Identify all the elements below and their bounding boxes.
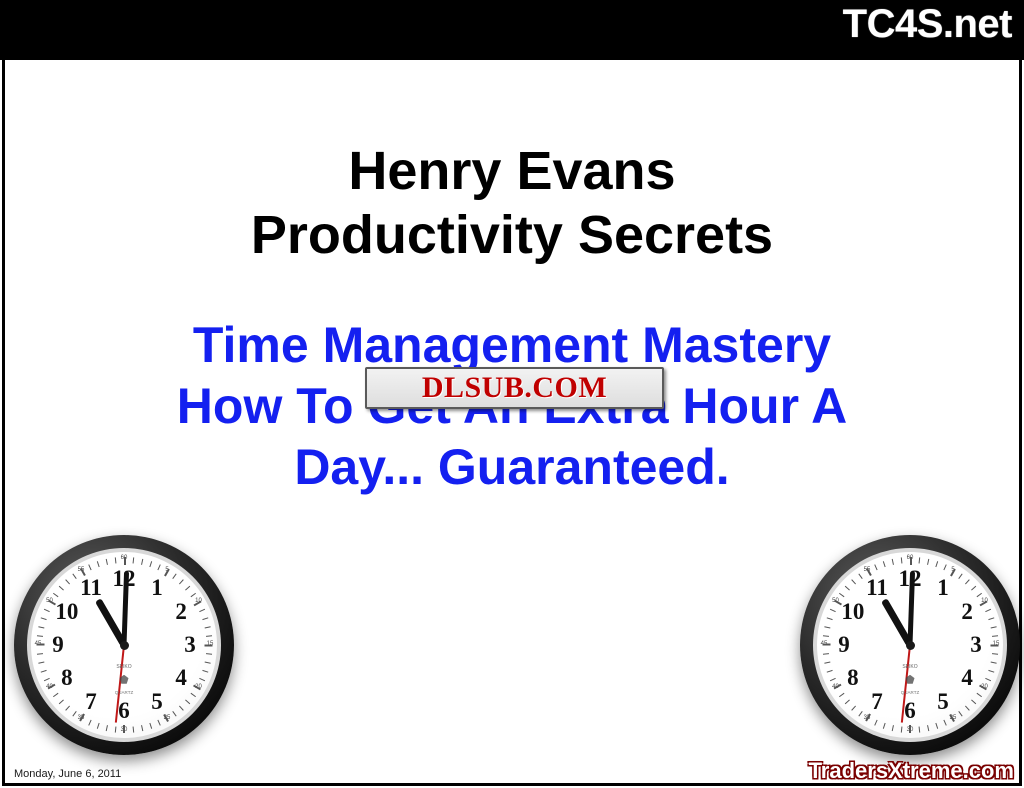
clock-tick: [892, 559, 894, 565]
clock-tick: [179, 706, 184, 711]
clock-tick: [935, 561, 938, 567]
clock-tick: [827, 617, 833, 620]
clock-tick: [883, 723, 886, 729]
clock-tick: [927, 559, 929, 565]
clock-tick: [41, 670, 47, 673]
dlsub-watermark: DLSUB.COM: [365, 367, 664, 409]
clock-tick: [202, 617, 208, 620]
clock-face: SEIKO QUARTZ 121234567891011605101520253…: [31, 552, 217, 738]
clock-tick: [185, 699, 190, 704]
clock-tick: [823, 644, 831, 646]
footer-brand: TradersXtreme.com: [809, 758, 1014, 784]
clock-tick: [199, 609, 205, 612]
clock-numeral-3: 3: [175, 630, 205, 660]
top-banner: TC4S.net: [0, 0, 1024, 60]
slide: TC4S.net Henry Evans Productivity Secret…: [0, 0, 1024, 788]
clock-tick: [839, 693, 844, 697]
clock-numeral-5: 5: [142, 687, 172, 717]
clock-numeral-9: 9: [43, 630, 73, 660]
clock-tick: [823, 635, 829, 637]
clock-tick: [141, 725, 143, 731]
clock-tick: [88, 720, 91, 726]
clock-tick: [88, 564, 91, 570]
clock-center-cap: [906, 641, 915, 650]
clock-tick: [65, 579, 70, 584]
clock-tick: [199, 678, 205, 681]
subtitle-line-3: Day... Guaranteed.: [0, 437, 1024, 498]
clock-tick: [185, 586, 190, 591]
page-title: Henry Evans Productivity Secrets: [0, 140, 1024, 267]
clock-tick: [892, 725, 894, 731]
clock-tick: [115, 726, 117, 732]
clock-numeral-9: 9: [829, 630, 859, 660]
clock-numeral-3: 3: [961, 630, 991, 660]
clock-tick: [874, 720, 877, 726]
clock-tick: [927, 725, 929, 731]
clock-tick: [909, 725, 911, 733]
clock-tick: [179, 579, 184, 584]
clock-tick: [106, 725, 108, 731]
clock-tick: [149, 561, 152, 567]
clock-tick: [97, 561, 100, 567]
clock-tick: [141, 559, 143, 565]
clock-tick: [38, 662, 44, 664]
clock-tick: [851, 706, 856, 711]
clock-tick: [992, 653, 998, 655]
clock-tick: [97, 723, 100, 729]
clock-tick: [37, 635, 43, 637]
clock-numeral-8: 8: [52, 663, 82, 693]
clock-tick: [41, 617, 47, 620]
clock-numeral-11: 11: [862, 573, 892, 603]
clock-tick: [992, 635, 998, 637]
clock-tick: [133, 726, 135, 732]
clock-tick: [44, 678, 50, 681]
clock-tick: [919, 726, 921, 732]
clock-tick: [65, 706, 70, 711]
clock-tick: [991, 626, 997, 628]
clock-tick: [845, 699, 850, 704]
clock-numeral-12: 12: [109, 564, 139, 594]
clock-numeral-5: 5: [928, 687, 958, 717]
clock-numeral-12: 12: [895, 564, 925, 594]
clock-tick: [830, 678, 836, 681]
clock-tick: [37, 644, 45, 646]
clock-tick: [202, 670, 208, 673]
clock-tick: [149, 723, 152, 729]
wall-clock-right: SEIKO QUARTZ 121234567891011605101520253…: [800, 535, 1020, 755]
clock-tick: [123, 725, 125, 733]
clock-tick: [44, 609, 50, 612]
clock-tick: [205, 645, 213, 647]
clock-tick: [977, 693, 982, 697]
clock-tick: [965, 706, 970, 711]
clock-tick: [124, 557, 126, 565]
clock-tick: [991, 645, 999, 647]
clock-numeral-6: 6: [895, 696, 925, 726]
clock-tick: [845, 586, 850, 591]
clock-tick: [133, 557, 135, 563]
clock-tick: [883, 561, 886, 567]
clock-tick: [988, 670, 994, 673]
clock-numeral-6: 6: [109, 696, 139, 726]
clock-tick: [59, 586, 64, 591]
clock-face: SEIKO QUARTZ 121234567891011605101520253…: [817, 552, 1003, 738]
clock-numeral-11: 11: [76, 573, 106, 603]
clock-tick: [106, 559, 108, 565]
clock-tick: [991, 662, 997, 664]
clock-tick: [910, 557, 912, 565]
site-label: TC4S.net: [843, 2, 1012, 47]
clock-tick: [971, 586, 976, 591]
clock-tick: [206, 653, 212, 655]
clock-tick: [115, 557, 117, 563]
wall-clock-left: SEIKO QUARTZ 121234567891011605101520253…: [14, 535, 234, 755]
clock-tick: [172, 574, 176, 579]
clock-numeral-8: 8: [838, 663, 868, 693]
clock-tick: [830, 609, 836, 612]
clock-tick: [901, 557, 903, 563]
clock-tick: [824, 626, 830, 628]
clock-tick: [205, 662, 211, 664]
clock-tick: [971, 699, 976, 704]
clock-tick: [988, 617, 994, 620]
clock-tick: [59, 699, 64, 704]
clock-tick: [919, 557, 921, 563]
clock-tick: [206, 635, 212, 637]
clock-tick: [824, 662, 830, 664]
clock-tick: [985, 678, 991, 681]
title-line-2: Productivity Secrets: [0, 204, 1024, 268]
clock-tick: [985, 609, 991, 612]
clock-tick: [958, 574, 962, 579]
clock-tick: [38, 626, 44, 628]
clock-tick: [901, 726, 903, 732]
clock-tick: [191, 693, 196, 697]
clock-brand-label: SEIKO: [880, 664, 940, 670]
clock-tick: [874, 564, 877, 570]
clock-tick: [53, 693, 58, 697]
dlsub-watermark-text: DLSUB.COM: [422, 371, 607, 405]
clock-tick: [851, 579, 856, 584]
clock-tick: [965, 579, 970, 584]
footer-date: Monday, June 6, 2011: [14, 768, 121, 780]
clock-tick: [205, 626, 211, 628]
clock-brand-label: SEIKO: [94, 664, 154, 670]
clock-center-cap: [120, 641, 129, 650]
clock-tick: [827, 670, 833, 673]
title-line-1: Henry Evans: [0, 140, 1024, 204]
clock-tick: [935, 723, 938, 729]
